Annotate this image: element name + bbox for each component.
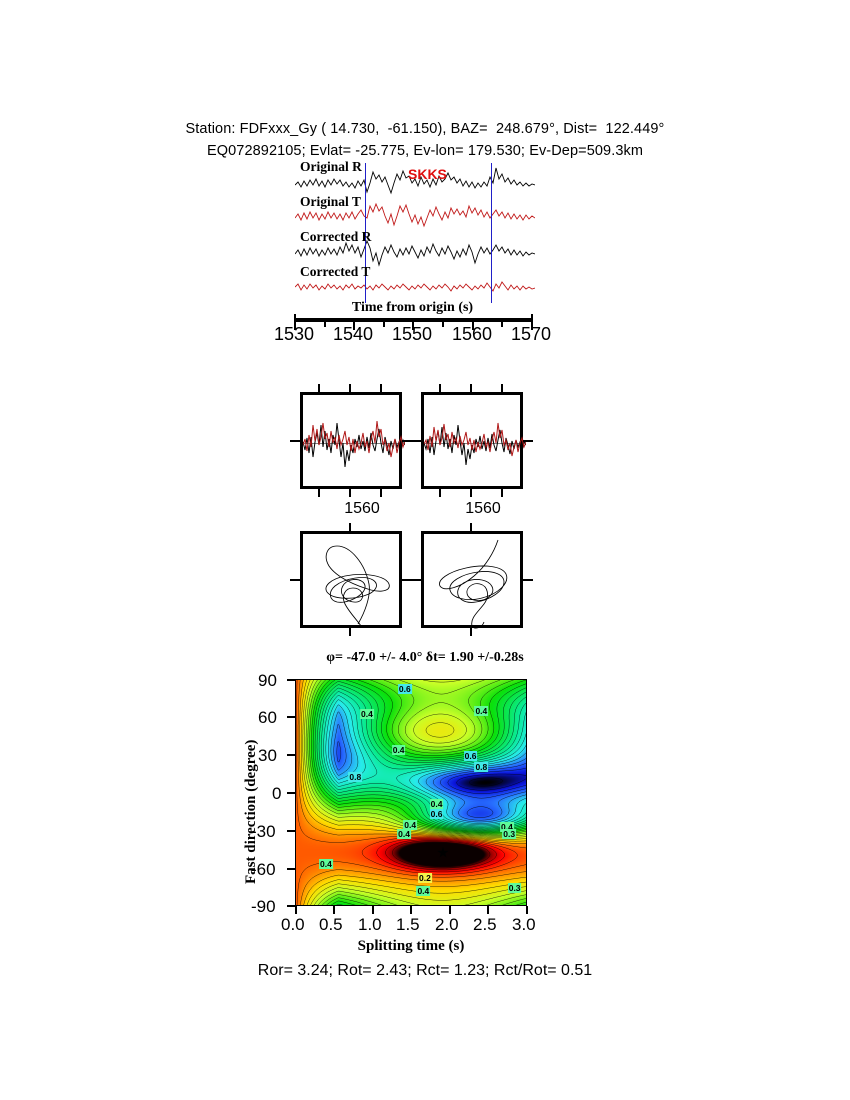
contour-label: 0.3: [502, 829, 516, 839]
hodo-tick: [349, 523, 351, 531]
contour-label: 0.6: [464, 751, 478, 761]
x-tick-label: 3.0: [512, 915, 536, 935]
contour-label: 0.4: [319, 859, 333, 869]
panel-tick: [349, 384, 351, 392]
panel-tick: [501, 384, 503, 392]
event-info-line: EQ072892105; Evlat= -25.775, Ev-lon= 179…: [0, 140, 850, 162]
contour-label: 0.8: [348, 772, 362, 782]
contour-label: 0.4: [360, 709, 374, 719]
x-tick: [487, 906, 489, 914]
skks-phase-label: SKKS: [408, 166, 447, 182]
particle-motion-path-uncorrected: [303, 534, 405, 631]
panel-tick: [439, 489, 441, 497]
y-tick-label: 60: [258, 708, 277, 728]
waveform-row-corrected-t: Corrected T: [295, 268, 535, 303]
hodo-axis-stub: [523, 579, 533, 581]
contour-label: 0.8: [474, 762, 488, 772]
time-tick-label: 1560: [452, 324, 492, 345]
time-tick-label: 1570: [511, 324, 551, 345]
x-tick: [295, 906, 297, 914]
hodo-axis-stub: [290, 579, 300, 581]
y-tick-label: -90: [251, 897, 276, 917]
x-tick-label: 0.0: [281, 915, 305, 935]
hodo-tick: [349, 628, 351, 636]
time-tick-label: 1530: [274, 324, 314, 345]
y-tick: [287, 716, 295, 718]
contour-label: 0.4: [474, 706, 488, 716]
contour-label: 0.4: [416, 886, 430, 896]
waveform-label-original-r: Original R: [300, 159, 362, 175]
fast-slow-traces-uncorrected: [303, 395, 405, 492]
panel-tick: [349, 489, 351, 497]
y-axis-title: Fast direction (degree): [243, 740, 260, 884]
y-tick: [287, 905, 295, 907]
particle-motion-uncorrected: [300, 531, 402, 628]
waveform-row-corrected-r: Corrected R: [295, 233, 535, 268]
energy-contour-plot: ★: [295, 679, 527, 906]
y-tick: [287, 679, 295, 681]
x-tick: [449, 906, 451, 914]
time-tick-label: 1540: [333, 324, 373, 345]
fast-slow-traces-corrected: [424, 395, 526, 492]
contour-label: 0.4: [397, 829, 411, 839]
y-tick-label: 0: [272, 784, 281, 804]
y-tick: [287, 830, 295, 832]
panel-tick: [470, 384, 472, 392]
panel-tick: [380, 489, 382, 497]
quality-stats-line: Ror= 3.24; Rot= 2.43; Rct= 1.23; Rct/Rot…: [0, 962, 850, 980]
waveform-label-corrected-r: Corrected R: [300, 229, 371, 245]
mid-panel-tick-label-right: 1560: [465, 500, 501, 518]
time-axis-tick-labels: 1530 1540 1550 1560 1570: [260, 324, 565, 348]
time-axis-caption: Time from origin (s): [285, 300, 540, 316]
hodo-tick: [470, 523, 472, 531]
y-tick-label: 90: [258, 671, 277, 691]
figure-page: Station: FDFxxx_Gy ( 14.730, -61.150), B…: [0, 0, 850, 1100]
contour-label: 0.2: [418, 873, 432, 883]
waveform-label-original-t: Original T: [300, 194, 361, 210]
panel-tick: [470, 489, 472, 497]
panel-axis-stub: [411, 440, 421, 442]
hodo-axis-stub: [411, 579, 421, 581]
best-fit-star-marker: ★: [436, 845, 449, 860]
x-tick-label: 0.5: [319, 915, 343, 935]
contour-label: 0.6: [430, 809, 444, 819]
panel-axis-stub: [523, 440, 533, 442]
fast-slow-panel-corrected: [421, 392, 523, 489]
panel-tick: [318, 489, 320, 497]
panel-tick: [501, 489, 503, 497]
splitting-result-text: φ= -47.0 +/- 4.0° δt= 1.90 +/-0.28s: [0, 650, 850, 666]
y-tick: [287, 868, 295, 870]
waveform-stack: Original R Original T Corrected R Correc…: [295, 163, 535, 303]
contour-label: 0.4: [430, 799, 444, 809]
panel-tick: [439, 384, 441, 392]
x-tick: [526, 906, 528, 914]
contour-label: 0.3: [508, 883, 522, 893]
contour-lines: [296, 680, 527, 906]
hodo-tick: [470, 628, 472, 636]
x-tick-label: 1.5: [396, 915, 420, 935]
waveform-label-corrected-t: Corrected T: [300, 264, 370, 280]
waveform-row-original-t: Original T: [295, 198, 535, 233]
x-tick-label: 2.5: [473, 915, 497, 935]
panel-tick: [380, 384, 382, 392]
mid-panel-tick-label-left: 1560: [344, 500, 380, 518]
analysis-window-end-marker: [491, 163, 492, 303]
contour-label: 0.6: [398, 684, 412, 694]
fast-slow-panel-uncorrected: [300, 392, 402, 489]
particle-motion-path-corrected: [424, 534, 526, 631]
x-tick-label: 1.0: [358, 915, 382, 935]
particle-motion-corrected: [421, 531, 523, 628]
y-tick: [287, 754, 295, 756]
time-tick-label: 1550: [392, 324, 432, 345]
figure-header: Station: FDFxxx_Gy ( 14.730, -61.150), B…: [0, 118, 850, 162]
x-axis-title: Splitting time (s): [295, 938, 527, 955]
panel-tick: [318, 384, 320, 392]
y-tick: [287, 792, 295, 794]
x-tick: [333, 906, 335, 914]
x-tick-label: 2.0: [435, 915, 459, 935]
y-tick-label: 30: [258, 746, 277, 766]
x-tick: [410, 906, 412, 914]
panel-axis-stub: [290, 440, 300, 442]
x-tick: [372, 906, 374, 914]
station-info-line: Station: FDFxxx_Gy ( 14.730, -61.150), B…: [0, 118, 850, 140]
contour-label: 0.4: [392, 745, 406, 755]
